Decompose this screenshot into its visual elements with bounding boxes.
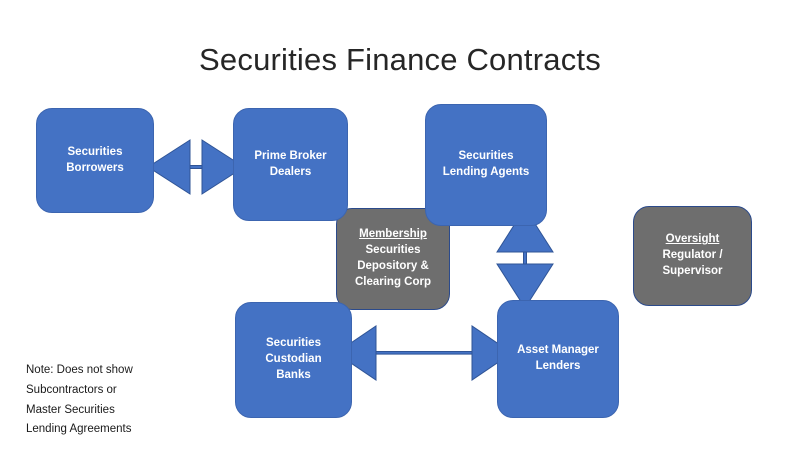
connector-custodian-banks-to-asset-manager[interactable]: [336, 324, 512, 382]
node-label-securities-lending-agents: Securities Lending Agents: [443, 149, 529, 181]
page-title: Securities Finance Contracts: [0, 42, 800, 78]
node-label-prime-broker-dealers: Prime Broker Dealers: [254, 149, 326, 181]
node-securities-borrowers[interactable]: Securities Borrowers: [36, 108, 154, 213]
footnote: Note: Does not show Subcontractors or Ma…: [26, 361, 216, 440]
node-regulator-supervisor[interactable]: Oversight Regulator / Supervisor: [633, 206, 752, 306]
slide-canvas: Securities Finance Contracts: [0, 0, 800, 451]
node-label-asset-manager-lenders: Asset Manager Lenders: [517, 343, 599, 375]
node-securities-custodian-banks[interactable]: Securities Custodian Banks: [235, 302, 352, 418]
node-heading-oversight: Oversight: [662, 232, 722, 248]
node-prime-broker-dealers[interactable]: Prime Broker Dealers: [233, 108, 348, 221]
node-label-regulator: Oversight Regulator / Supervisor: [662, 232, 722, 280]
connector-borrowers-to-prime-broker[interactable]: [148, 136, 244, 198]
node-securities-lending-agents[interactable]: Securities Lending Agents: [425, 104, 547, 226]
node-asset-manager-lenders[interactable]: Asset Manager Lenders: [497, 300, 619, 418]
footnote-line-2: Subcontractors or: [26, 381, 216, 401]
node-label-securities-custodian-banks: Securities Custodian Banks: [265, 336, 321, 384]
node-heading-membership: Membership: [355, 227, 431, 243]
node-label-depository: Membership Securities Depository & Clear…: [355, 227, 431, 290]
footnote-line-4: Lending Agreements: [26, 420, 216, 440]
node-label-securities-borrowers: Securities Borrowers: [66, 145, 124, 177]
footnote-line-3: Master Securities: [26, 401, 216, 421]
footnote-line-1: Note: Does not show: [26, 361, 216, 381]
